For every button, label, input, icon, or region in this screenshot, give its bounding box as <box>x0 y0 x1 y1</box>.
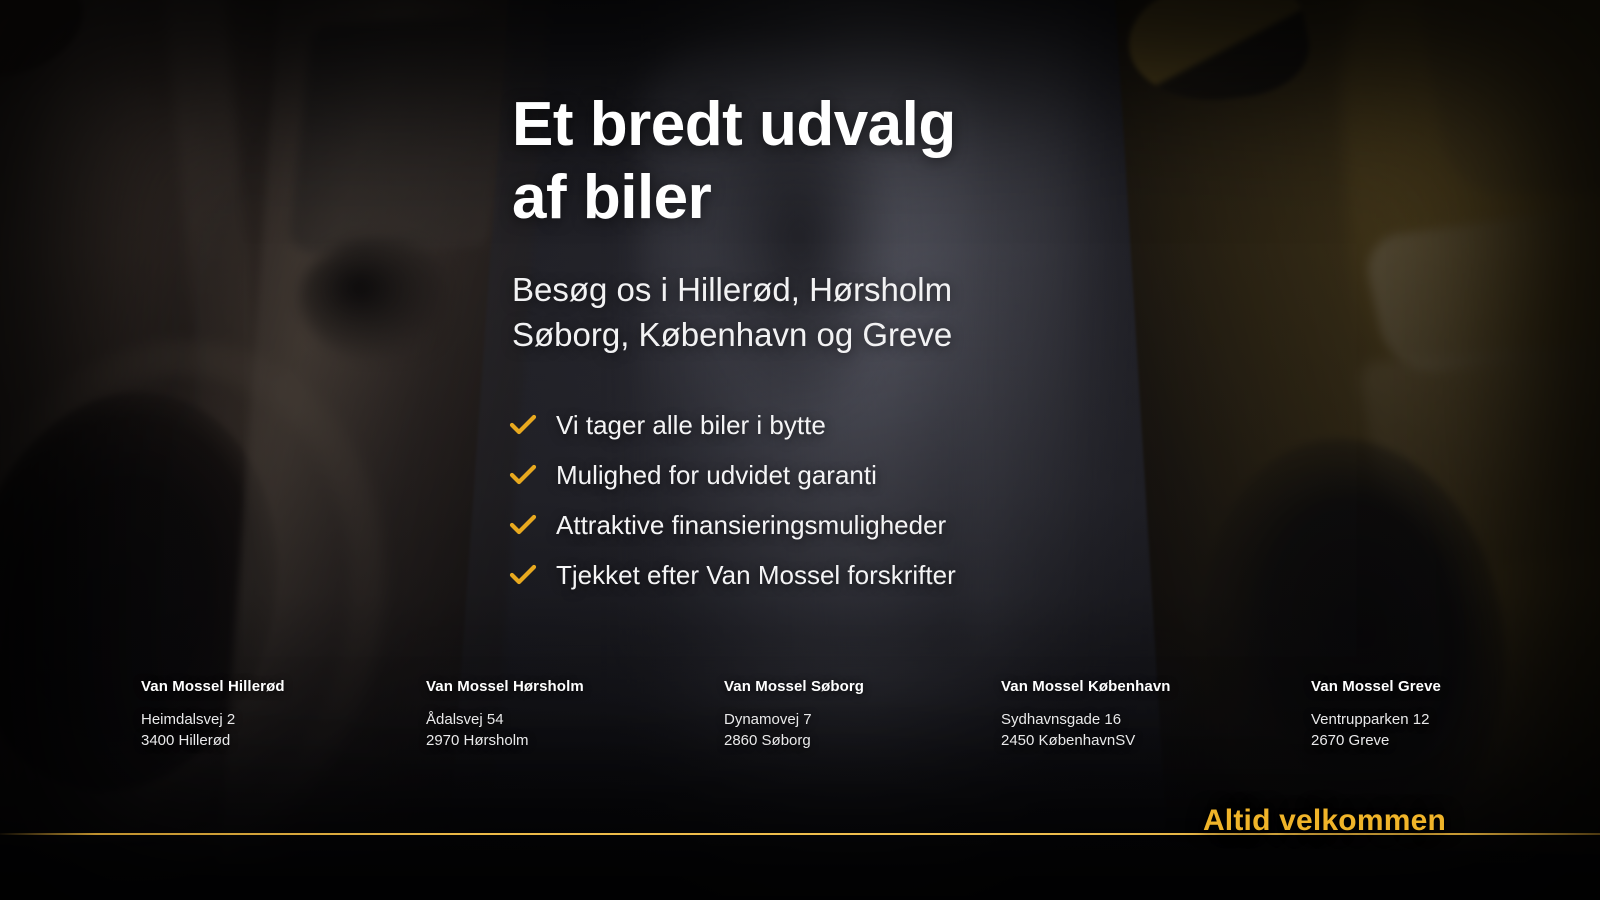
location-name: Van Mossel København <box>1001 678 1171 695</box>
feature-label: Attraktive finansieringsmuligheder <box>556 510 946 541</box>
location-address: Dynamovej 7 2860 Søborg <box>724 709 864 752</box>
hero-banner: Et bredt udvalg af biler Besøg os i Hill… <box>0 0 1600 900</box>
location-card-hillerod: Van Mossel Hillerød Heimdalsvej 2 3400 H… <box>141 678 285 752</box>
location-name: Van Mossel Søborg <box>724 678 864 695</box>
location-card-kobenhavn: Van Mossel København Sydhavnsgade 16 245… <box>1001 678 1171 752</box>
hero-subtitle: Besøg os i Hillerød, Hørsholm Søborg, Kø… <box>512 268 1152 358</box>
feature-label: Mulighed for udvidet garanti <box>556 460 877 491</box>
check-icon <box>508 510 538 540</box>
location-address: Ventrupparken 12 2670 Greve <box>1311 709 1441 752</box>
location-address: Heimdalsvej 2 3400 Hillerød <box>141 709 285 752</box>
location-name: Van Mossel Greve <box>1311 678 1441 695</box>
location-address: Ådalsvej 54 2970 Hørsholm <box>426 709 584 752</box>
feature-label: Vi tager alle biler i bytte <box>556 410 826 441</box>
feature-list: Vi tager alle biler i bytte Mulighed for… <box>508 400 956 600</box>
list-item: Tjekket efter Van Mossel forskrifter <box>508 550 956 600</box>
location-card-horsholm: Van Mossel Hørsholm Ådalsvej 54 2970 Hør… <box>426 678 584 752</box>
feature-label: Tjekket efter Van Mossel forskrifter <box>556 560 956 591</box>
list-item: Attraktive finansieringsmuligheder <box>508 500 956 550</box>
location-card-greve: Van Mossel Greve Ventrupparken 12 2670 G… <box>1311 678 1441 752</box>
dealership-locations: Van Mossel Hillerød Heimdalsvej 2 3400 H… <box>0 678 1600 768</box>
check-icon <box>508 410 538 440</box>
check-icon <box>508 460 538 490</box>
location-name: Van Mossel Hørsholm <box>426 678 584 695</box>
hero-content: Et bredt udvalg af biler Besøg os i Hill… <box>0 0 1600 900</box>
location-card-soborg: Van Mossel Søborg Dynamovej 7 2860 Søbor… <box>724 678 864 752</box>
check-icon <box>508 560 538 590</box>
brand-slogan: Altid velkommen <box>1187 804 1462 838</box>
location-address: Sydhavnsgade 16 2450 KøbenhavnSV <box>1001 709 1171 752</box>
location-name: Van Mossel Hillerød <box>141 678 285 695</box>
list-item: Mulighed for udvidet garanti <box>508 450 956 500</box>
list-item: Vi tager alle biler i bytte <box>508 400 956 450</box>
page-title: Et bredt udvalg af biler <box>512 88 1132 234</box>
